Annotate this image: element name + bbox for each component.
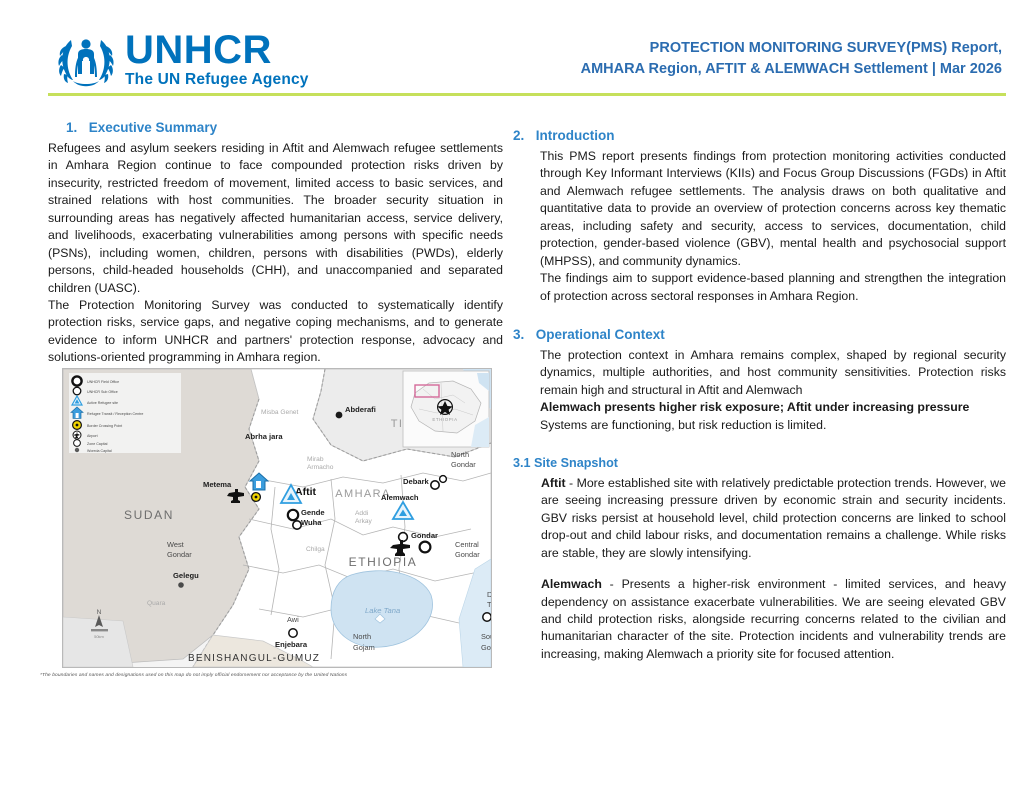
report-title: PROTECTION MONITORING SURVEY(PMS) Report… [442, 38, 1002, 79]
map-label-alemwach: Alemwach [381, 493, 419, 502]
legend-label-2: Active Refugee site [87, 401, 118, 405]
map-label-debark: Debark [403, 477, 430, 486]
legend-label-1: UNHCR Sub Office [87, 390, 118, 394]
section-title: Introduction [536, 128, 615, 143]
marker-debre-tabor [483, 613, 491, 621]
operational-context-paragraph-1: The protection context in Amhara remains… [513, 347, 1006, 399]
legend-label-5: Airport [87, 434, 98, 438]
section-heading-operational-context: 3. Operational Context [513, 327, 1006, 344]
map-label-west-gondar: Gondar [167, 550, 192, 559]
svg-text:50km: 50km [94, 634, 104, 639]
marker-enjebara [289, 629, 297, 637]
zone-capital-icon [74, 440, 81, 447]
report-title-line2: AMHARA Region, AFTIT & ALEMWACH Settleme… [442, 59, 1002, 80]
subsection-title: Site Snapshot [534, 456, 618, 470]
map-label-south-gondar-2: Gondar [481, 643, 491, 652]
map-label-central: Central [455, 540, 479, 549]
marker-debark-sub [440, 476, 447, 483]
site-snapshot-item-alemwach: Alemwach - Presents a higher-risk enviro… [513, 576, 1006, 663]
section-heading-site-snapshot: 3.1 Site Snapshot [513, 456, 1006, 472]
map-label-sudan: SUDAN [124, 508, 174, 522]
left-column: 1. Executive Summary Refugees and asylum… [48, 120, 503, 367]
map-label-chilga: Chilga [306, 546, 325, 553]
map-label-gondar-central: Gondar [455, 550, 480, 559]
map-label-metema: Metema [203, 480, 232, 489]
section-number: 2. [513, 128, 532, 145]
page-header: UNHCR The UN Refugee Agency PROTECTION M… [0, 0, 1024, 92]
logo-subtitle: The UN Refugee Agency [125, 72, 309, 88]
right-column: 2. Introduction This PMS report presents… [513, 128, 1006, 663]
map-label-mirab: Mirab [307, 456, 324, 463]
unhcr-logo: UNHCR The UN Refugee Agency [55, 30, 309, 88]
map-label-abderafi: Abderafi [345, 405, 376, 414]
map-label-south-gondar-1: South [481, 632, 491, 641]
reference-map: TIGRAY AMHARA SUDAN ETHIOPIA BENISHANGUL… [62, 368, 492, 668]
section-title: Executive Summary [89, 120, 217, 135]
section-number: 1. [66, 120, 85, 137]
site-name-aftit: Aftit [541, 476, 566, 490]
map-label-gondar: Gondar [411, 531, 438, 540]
unhcr-laurel-figure-logo [55, 30, 117, 88]
header-divider [48, 93, 1006, 96]
map-label-armacho: Armacho [307, 464, 334, 471]
section-heading-executive-summary: 1. Executive Summary [48, 120, 503, 137]
legend-label-6: Zone Capital [87, 442, 108, 446]
marker-woreda-abderafi [336, 412, 343, 419]
unhcr-sub-office-icon [73, 387, 81, 395]
marker-gelegu [178, 582, 184, 588]
map-disclaimer: *The boundaries and names and designatio… [40, 673, 500, 679]
report-title-line1: PROTECTION MONITORING SURVEY(PMS) Report… [442, 38, 1002, 59]
site-name-alemwach: Alemwach [541, 577, 602, 591]
operational-context-closing-line: Systems are functioning, but risk reduct… [513, 417, 1006, 434]
map-label-tabor: Tabor [487, 600, 491, 609]
map-label-west: West [167, 540, 184, 549]
woreda-capital-icon [75, 448, 79, 452]
logo-title: UNHCR [125, 30, 309, 70]
map-label-misba-genet: Misba Genet [261, 409, 299, 416]
svg-text:N: N [97, 609, 102, 616]
map-label-gende: Gende [301, 508, 325, 517]
inset-label-ethiopia: ETHIOPIA [432, 417, 457, 422]
legend-label-7: Woreda Capital [87, 449, 112, 453]
map-label-enjebara: Enjebara [275, 640, 308, 649]
legend-label-0: UNHCR Field Office [87, 380, 119, 384]
map-label-addi: Addi [355, 510, 369, 517]
unhcr-field-office-icon [72, 376, 81, 385]
legend-label-4: Border Crossing Point [87, 424, 122, 428]
section-title: Operational Context [536, 327, 665, 342]
map-label-awi: Awi [287, 615, 299, 624]
subsection-number: 3.1 [513, 456, 531, 470]
map-label-arkay: Arkay [355, 518, 373, 525]
map-label-abrha-jara: Abrha jara [245, 432, 283, 441]
section-number: 3. [513, 327, 532, 344]
introduction-paragraph-2: The findings aim to support evidence-bas… [513, 270, 1006, 305]
executive-summary-paragraph-1: Refugees and asylum seekers residing in … [48, 140, 503, 297]
site-snapshot-item-aftit: Aftit - More established site with relat… [513, 475, 1006, 562]
introduction-paragraph-1: This PMS report presents findings from p… [513, 148, 1006, 270]
map-label-debre: Debre [487, 590, 491, 599]
section-heading-introduction: 2. Introduction [513, 128, 1006, 145]
site-dash-aftit: - [566, 476, 577, 490]
executive-summary-paragraph-2: The Protection Monitoring Survey was con… [48, 297, 503, 367]
operational-context-bold-line: Alemwach presents higher risk exposure; … [513, 399, 1006, 416]
map-label-north-gojam-2: Gojam [353, 643, 375, 652]
map-label-ethiopia: ETHIOPIA [349, 555, 418, 569]
marker-debark-office [431, 481, 439, 489]
map-label-lake-tana: Lake Tana [365, 606, 400, 615]
map-label-benishangul: BENISHANGUL-GUMUZ [188, 653, 320, 664]
map-inset-ethiopia: ETHIOPIA [403, 371, 489, 447]
map-label-gelegu: Gelegu [173, 571, 199, 580]
map-label-gondar-zone: Gondar [451, 460, 476, 469]
map-label-north: North [451, 450, 469, 459]
map-label-north-gojam-1: North [353, 632, 371, 641]
map-label-quara: Quara [147, 600, 166, 607]
site-text-aftit: More established site with relatively pr… [541, 476, 1006, 560]
legend-label-3: Refugee Transit / Reception Centre [87, 412, 143, 416]
map-legend: UNHCR Field Office UNHCR Sub Office Acti… [69, 373, 181, 453]
site-dash-alemwach: - [602, 577, 622, 591]
map-label-wuha: Wuha [301, 518, 322, 527]
